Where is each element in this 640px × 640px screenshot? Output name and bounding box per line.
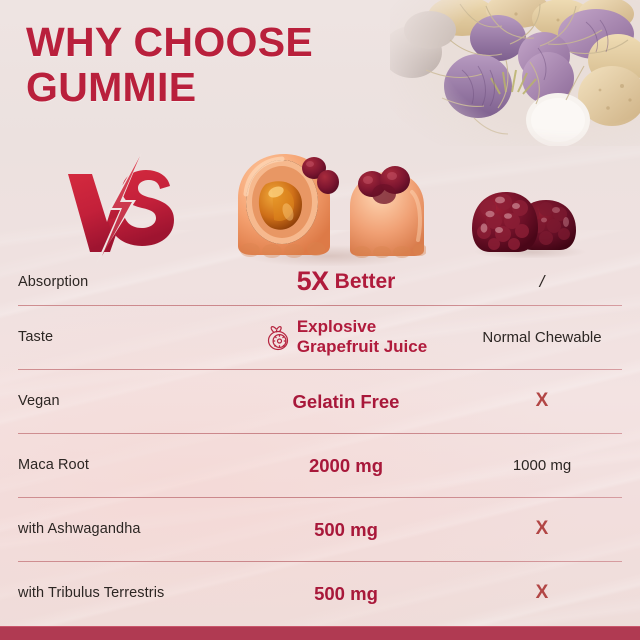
taste-ours-line2: Grapefruit Juice [297,337,427,356]
footer-accent-bar [0,626,640,640]
tribulus-ours-value: 500 mg [314,584,378,603]
absorption-better-label: Better [335,272,396,291]
row-label-maca-root: Maca Root [18,457,230,473]
maca-root-image [390,0,640,146]
row-theirs-tribulus-terrestris: X [462,582,622,604]
row-ours-tribulus-terrestris: 500 mg [230,584,462,603]
taste-theirs-value: Normal Chewable [482,329,601,346]
maca-ours-value: 2000 mg [309,456,383,475]
row-label-taste: Taste [18,329,230,345]
comparison-table: Absorption 5X Better / Taste [0,258,640,625]
ashwagandha-ours-value: 500 mg [314,520,378,539]
title-line-2: GUMMIE [26,65,313,110]
title-line-1: WHY CHOOSE [26,20,313,65]
table-row: Taste [0,305,640,369]
taste-ours-value: Explosive Grapefruit Juice [297,317,427,357]
row-ours-absorption: 5X Better [230,272,462,291]
row-ours-maca-root: 2000 mg [230,456,462,475]
row-ours-vegan: Gelatin Free [230,392,462,411]
row-label-vegan: Vegan [18,393,230,409]
row-label-ashwagandha: with Ashwagandha [18,521,230,537]
row-theirs-ashwagandha: X [462,518,622,540]
row-label-tribulus-terrestris: with Tribulus Terrestris [18,585,230,601]
comparison-infographic: WHY CHOOSE GUMMIE [0,0,640,640]
vegan-ours-value: Gelatin Free [293,392,400,411]
page-title: WHY CHOOSE GUMMIE [26,20,313,110]
ashwagandha-theirs-x-mark: X [536,518,549,540]
vegan-theirs-x-mark: X [536,390,549,412]
table-row: Absorption 5X Better / [0,258,640,305]
row-label-absorption: Absorption [18,274,230,290]
row-theirs-vegan: X [462,390,622,412]
table-row: Maca Root 2000 mg 1000 mg [0,433,640,497]
row-ours-ashwagandha: 500 mg [230,520,462,539]
tribulus-theirs-x-mark: X [536,582,549,604]
taste-ours-line1: Explosive [297,317,376,336]
vs-badge [62,152,182,264]
absorption-theirs-value: / [540,272,545,292]
competitor-gummie-image [466,176,596,258]
table-row: Vegan Gelatin Free X [0,369,640,433]
row-theirs-absorption: / [462,272,622,292]
grapefruit-icon [265,323,291,351]
maca-theirs-value: 1000 mg [513,457,571,474]
table-row: with Ashwagandha 500 mg X [0,497,640,561]
row-theirs-taste: Normal Chewable [462,329,622,346]
absorption-multiplier: 5X [297,272,329,291]
row-theirs-maca-root: 1000 mg [462,457,622,474]
row-ours-taste: Explosive Grapefruit Juice [230,317,462,357]
table-row: with Tribulus Terrestris 500 mg X [0,561,640,625]
our-gummie-image [232,142,426,266]
